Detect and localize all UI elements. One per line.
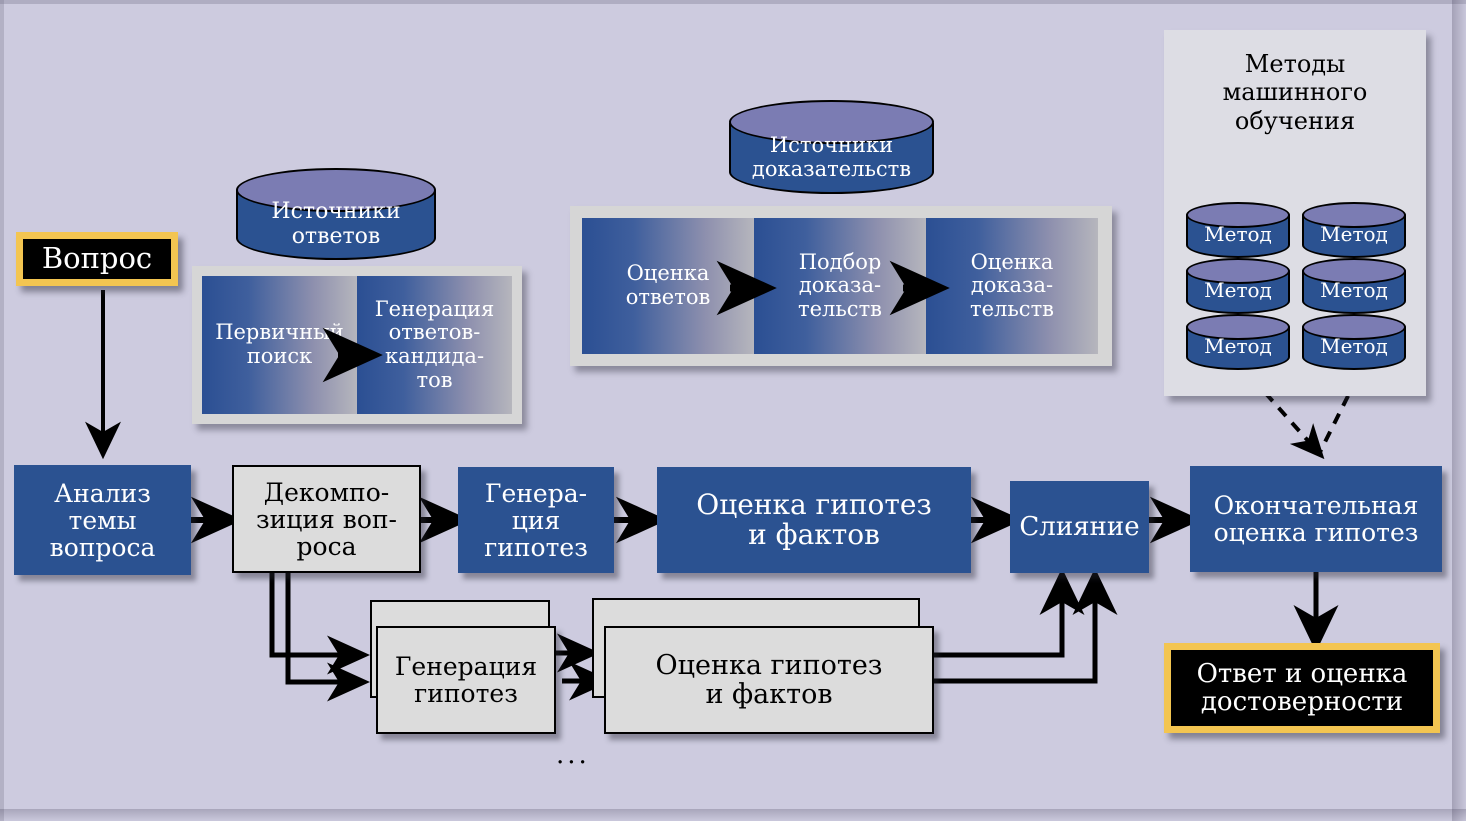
- node-line: вопроса: [50, 534, 156, 561]
- arrow-decomposition-to-branch-2: [288, 570, 358, 682]
- ml-method-label: Метод: [1186, 279, 1290, 301]
- question-label: Вопрос: [42, 243, 152, 274]
- output-line1: Ответ и оценка: [1197, 660, 1408, 688]
- node-line: Генерация: [395, 653, 537, 680]
- ml-methods-panel: Методы машинного обучения Метод Метод Ме…: [1164, 30, 1426, 396]
- ml-methods-title: Методы машинного обучения: [1164, 50, 1426, 135]
- node-line: и фактов: [655, 680, 882, 709]
- branch-hypothesis-evaluation[interactable]: Оценка гипотез и фактов: [604, 626, 934, 734]
- question-input-box[interactable]: Вопрос: [16, 232, 178, 286]
- answer-output-box[interactable]: Ответ и оценка достоверности: [1164, 643, 1440, 733]
- ml-method-cylinder-3[interactable]: Метод: [1186, 314, 1290, 380]
- pipeline-node-hypothesis-evaluation[interactable]: Оценка гипотез и фактов: [657, 467, 971, 573]
- answer-generation-panel: Первичный поиск Генерация ответов- канди…: [192, 266, 522, 424]
- evidence-panel: Оценка ответов Подбор доказа- тельств Оц…: [570, 206, 1112, 366]
- node-line: Генера-: [484, 480, 588, 507]
- branch-ellipsis: ...: [556, 740, 590, 770]
- node-line: темы: [50, 507, 156, 534]
- ml-method-cylinder-6[interactable]: Метод: [1302, 314, 1406, 380]
- node-line: Декомпо-: [256, 479, 397, 506]
- node-line: Окончательная: [1214, 492, 1419, 519]
- answer-sources-label: Источники ответов: [236, 200, 436, 249]
- ml-method-label: Метод: [1302, 335, 1406, 357]
- evidence-sources-cylinder: Источники доказательств: [729, 100, 934, 206]
- node-line: Слияние: [1019, 513, 1139, 541]
- canvas-edge-left: [0, 0, 4, 821]
- canvas-edge-right: [1452, 0, 1466, 821]
- answer-sources-line2: ответов: [236, 225, 436, 250]
- output-line2: достоверности: [1197, 688, 1408, 716]
- ml-method-label: Метод: [1186, 335, 1290, 357]
- ml-title-line: машинного: [1164, 78, 1426, 106]
- node-line: Оценка гипотез: [655, 651, 882, 680]
- node-line: Оценка гипотез: [696, 490, 931, 520]
- ml-title-line: обучения: [1164, 107, 1426, 135]
- pipeline-node-question-decomposition[interactable]: Декомпо- зиция воп- роса: [232, 465, 421, 573]
- pipeline-node-question-analysis[interactable]: Анализ темы вопроса: [14, 465, 191, 575]
- branch-hypothesis-generation[interactable]: Генерация гипотез: [376, 626, 556, 734]
- evidence-panel-arrow-overlay: [570, 206, 1112, 366]
- answer-panel-arrow-overlay: [192, 266, 522, 424]
- canvas-edge-bottom: [0, 809, 1466, 821]
- answer-sources-cylinder: Источники ответов: [236, 168, 436, 272]
- evidence-sources-line2: доказательств: [729, 158, 934, 182]
- node-line: роса: [256, 533, 397, 560]
- ml-method-label: Метод: [1302, 223, 1406, 245]
- pipeline-node-merge[interactable]: Слияние: [1010, 481, 1149, 573]
- arrow-decomposition-to-branch-1: [272, 570, 358, 655]
- ml-method-label: Метод: [1302, 279, 1406, 301]
- node-line: зиция воп-: [256, 506, 397, 533]
- answer-sources-line1: Источники: [236, 200, 436, 225]
- arrow-branch-eval-to-merge-1: [920, 582, 1062, 655]
- canvas-edge-top: [0, 0, 1466, 4]
- ml-title-line: Методы: [1164, 50, 1426, 78]
- node-line: и фактов: [696, 520, 931, 550]
- node-line: Анализ: [50, 480, 156, 507]
- node-line: оценка гипотез: [1214, 519, 1419, 546]
- arrow-branch-eval-to-merge-2: [934, 582, 1095, 681]
- evidence-sources-label: Источники доказательств: [729, 134, 934, 181]
- node-line: гипотез: [484, 534, 588, 561]
- node-line: ция: [484, 507, 588, 534]
- ml-method-label: Метод: [1186, 223, 1290, 245]
- evidence-sources-line1: Источники: [729, 134, 934, 158]
- pipeline-node-final-scoring[interactable]: Окончательная оценка гипотез: [1190, 466, 1442, 572]
- node-line: гипотез: [395, 680, 537, 707]
- diagram-canvas: Вопрос Источники ответов Первичный поиск…: [0, 0, 1466, 821]
- pipeline-node-hypothesis-generation[interactable]: Генера- ция гипотез: [458, 467, 614, 573]
